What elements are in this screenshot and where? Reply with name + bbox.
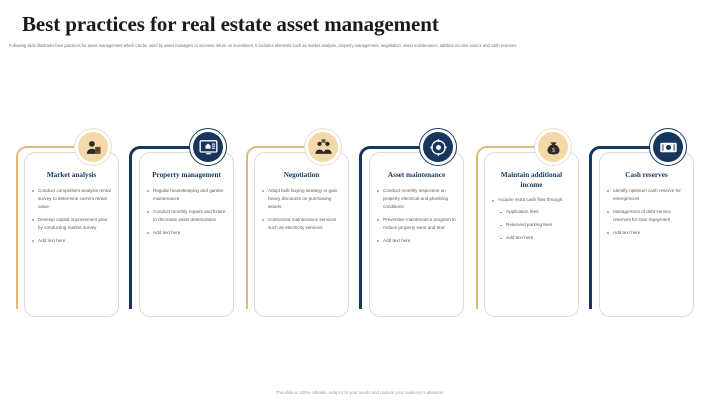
svg-text:$: $ xyxy=(551,146,554,153)
practice-card-property-management: Property managementRegular housekeeping … xyxy=(127,128,242,323)
practice-card-asset-maintenance: Asset maintenanceConduct monthly inspect… xyxy=(357,128,472,323)
card-bullet-list: Adopt bulk buying strategy to gain heavy… xyxy=(260,187,343,232)
card-icon-badge xyxy=(189,128,227,166)
sub-bullet-text: Reserved parking fees xyxy=(506,222,552,227)
card-icon-badge: $ xyxy=(534,128,572,166)
bullet-text: Acquire extra cash flow through xyxy=(498,197,562,202)
card-panel: Asset maintenanceConduct monthly inspect… xyxy=(369,152,464,317)
best-practices-card-row: Market analysisConduct competitors analy… xyxy=(12,128,712,323)
practice-card-negotiation: NegotiationAdopt bulk buying strategy to… xyxy=(242,128,357,323)
bullet-item: Add text here xyxy=(145,229,228,237)
gear-tools-icon xyxy=(423,132,453,162)
card-bullet-list: Identify optimum cash reserve for emerge… xyxy=(605,187,688,237)
card-title: Maintain additional income xyxy=(490,171,573,190)
page-subtitle: Following slide illustrates best practic… xyxy=(9,42,709,50)
editable-note: This slide is 100% editable. Adapt it to… xyxy=(0,390,720,395)
sub-bullet-item: Application fees xyxy=(498,208,573,216)
card-title: Asset maintenance xyxy=(375,171,458,181)
bullet-text: Add text here xyxy=(153,230,180,235)
bullet-item: Adopt bulk buying strategy to gain heavy… xyxy=(260,187,343,211)
bullet-item: Conduct monthly repairs and fixture to d… xyxy=(145,208,228,224)
practice-card-cash-reserves: Cash reservesIdentify optimum cash reser… xyxy=(587,128,702,323)
card-panel: Maintain additional incomeAcquire extra … xyxy=(484,152,579,317)
card-icon-badge xyxy=(304,128,342,166)
bullet-item: Contracted maintenance services such as … xyxy=(260,216,343,232)
practice-card-maintain-additional-income: Maintain additional incomeAcquire extra … xyxy=(472,128,587,323)
person-analyst-icon xyxy=(78,132,108,162)
bullet-text: Identify optimum cash reserve for emerge… xyxy=(613,188,681,201)
bullet-item: Preventive maintenance program to reduce… xyxy=(375,216,458,232)
bullet-text: Adopt bulk buying strategy to gain heavy… xyxy=(268,188,337,209)
bullet-text: Add text here xyxy=(38,238,65,243)
card-title: Property management xyxy=(145,171,228,181)
card-bullet-list: Acquire extra cash flow throughApplicati… xyxy=(490,196,573,242)
bullet-item: Add text here xyxy=(605,229,688,237)
cash-banknote-icon xyxy=(653,132,683,162)
card-icon-badge xyxy=(419,128,457,166)
card-bullet-list: Regular housekeeping and garden maintena… xyxy=(145,187,228,237)
card-bullet-list: Conduct monthly inspection on property e… xyxy=(375,187,458,245)
card-panel: Market analysisConduct competitors analy… xyxy=(24,152,119,317)
money-bag-icon: $ xyxy=(538,132,568,162)
bullet-text: Add text here xyxy=(383,238,410,243)
bullet-item: Add text here xyxy=(30,237,113,245)
card-icon-badge xyxy=(74,128,112,166)
card-bullet-list: Conduct competitors analysis rental surv… xyxy=(30,187,113,245)
card-icon-badge xyxy=(649,128,687,166)
bullet-text: Contracted maintenance services such as … xyxy=(268,217,336,230)
card-title: Cash reserves xyxy=(605,171,688,181)
card-title: Negotiation xyxy=(260,171,343,181)
bullet-text: Regular housekeeping and garden maintena… xyxy=(153,188,224,201)
bullet-item: Regular housekeeping and garden maintena… xyxy=(145,187,228,203)
bullet-item: Conduct competitors analysis rental surv… xyxy=(30,187,113,211)
bullet-item: Conduct monthly inspection on property e… xyxy=(375,187,458,211)
bullet-text: Conduct monthly inspection on property e… xyxy=(383,188,448,209)
card-panel: Cash reservesIdentify optimum cash reser… xyxy=(599,152,694,317)
card-panel: Property managementRegular housekeeping … xyxy=(139,152,234,317)
bullet-item: Management of debt service reserves for … xyxy=(605,208,688,224)
sub-bullet-text: Application fees xyxy=(506,209,538,214)
card-sub-bullet-list: Application feesReserved parking feesAdd… xyxy=(498,208,573,242)
bullet-item: Add text here xyxy=(375,237,458,245)
bullet-text: Preventive maintenance program to reduce… xyxy=(383,217,456,230)
bullet-item: Develop capital improvement plan by cond… xyxy=(30,216,113,232)
sub-bullet-text: Add text here xyxy=(506,235,533,240)
page-title: Best practices for real estate asset man… xyxy=(22,12,439,37)
slide-root: Best practices for real estate asset man… xyxy=(0,0,720,404)
sub-bullet-item: Add text here xyxy=(498,234,573,242)
bullet-text: Management of debt service reserves for … xyxy=(613,209,671,222)
bullet-text: Add text here xyxy=(613,230,640,235)
bullet-item: Identify optimum cash reserve for emerge… xyxy=(605,187,688,203)
sub-bullet-item: Reserved parking fees xyxy=(498,221,573,229)
practice-card-market-analysis: Market analysisConduct competitors analy… xyxy=(12,128,127,323)
bullet-item: Acquire extra cash flow throughApplicati… xyxy=(490,196,573,242)
monitor-house-icon xyxy=(193,132,223,162)
card-title: Market analysis xyxy=(30,171,113,181)
bullet-text: Conduct monthly repairs and fixture to d… xyxy=(153,209,226,222)
bullet-text: Conduct competitors analysis rental surv… xyxy=(38,188,111,209)
bullet-text: Develop capital improvement plan by cond… xyxy=(38,217,107,230)
card-panel: NegotiationAdopt bulk buying strategy to… xyxy=(254,152,349,317)
handshake-meeting-icon xyxy=(308,132,338,162)
